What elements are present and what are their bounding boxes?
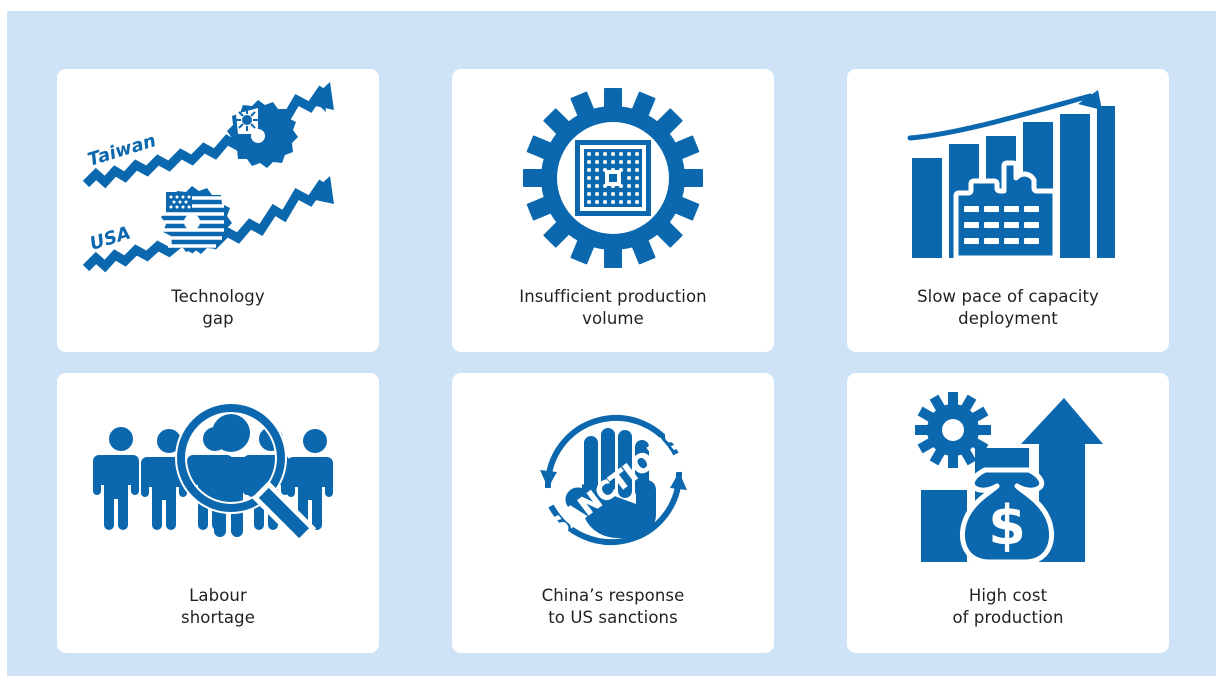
card-chinas-response-to-us-sanctions[interactable]: SANCTIONS China’s response to US sanctio…	[452, 373, 774, 653]
card-label-insufficient-production-volume: Insufficient production volume	[519, 286, 706, 352]
curve-label-usa: USA	[87, 222, 133, 254]
card-slow-pace-of-capacity-deployment[interactable]: Slow pace of capacity deployment	[847, 69, 1169, 352]
money-bag-gear-arrow-icon: $	[847, 373, 1169, 585]
card-label-technology-gap: Technology gap	[171, 286, 264, 352]
card-label-high-cost-of-production: High cost of production	[952, 585, 1063, 653]
gear-microchip-icon	[452, 69, 774, 286]
card-label-slow-pace-of-capacity-deployment: Slow pace of capacity deployment	[917, 286, 1099, 352]
card-label-labour-shortage: Labour shortage	[181, 585, 255, 653]
cards-grid: Taiwan USA Technology gap	[57, 69, 1169, 653]
people-magnifier-icon	[57, 373, 379, 585]
card-label-chinas-response-to-us-sanctions: China’s response to US sanctions	[542, 585, 685, 653]
card-technology-gap[interactable]: Taiwan USA Technology gap	[57, 69, 379, 352]
growth-curves-gears-icon: Taiwan USA	[57, 69, 379, 286]
background-panel: Taiwan USA Technology gap	[7, 11, 1216, 676]
card-labour-shortage[interactable]: Labour shortage	[57, 373, 379, 653]
card-insufficient-production-volume[interactable]: Insufficient production volume	[452, 69, 774, 352]
sanctions-hand-circle-icon: SANCTIONS	[452, 373, 774, 585]
factory-bar-chart-arrow-icon	[847, 69, 1169, 286]
dollar-sign-glyph: $	[988, 494, 1026, 557]
card-high-cost-of-production[interactable]: $ High cost of production	[847, 373, 1169, 653]
